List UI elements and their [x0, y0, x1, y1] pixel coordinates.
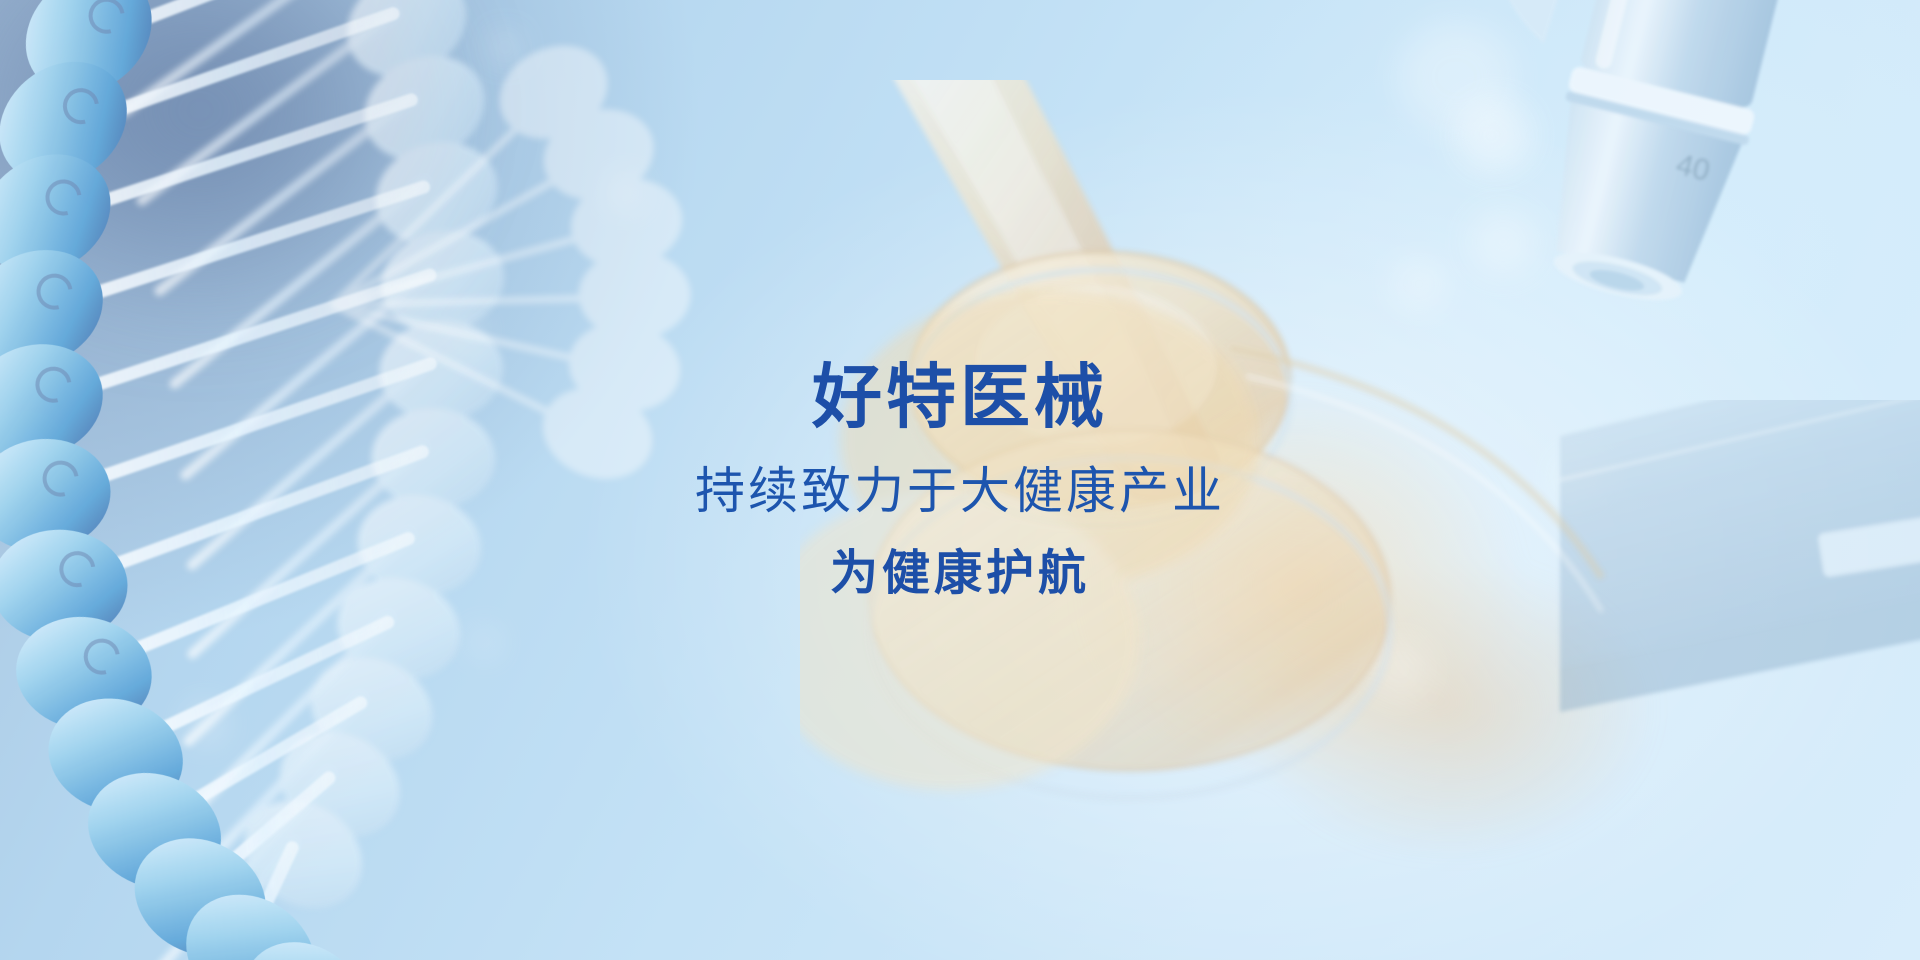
page-title: 好特医械: [812, 362, 1108, 432]
hero-copy: 好特医械 持续致力于大健康产业 为健康护航: [0, 0, 1920, 960]
hero-tagline: 为健康护航: [830, 550, 1090, 598]
hero-banner: 40: [0, 0, 1920, 960]
hero-subtitle: 持续致力于大健康产业: [695, 466, 1225, 516]
